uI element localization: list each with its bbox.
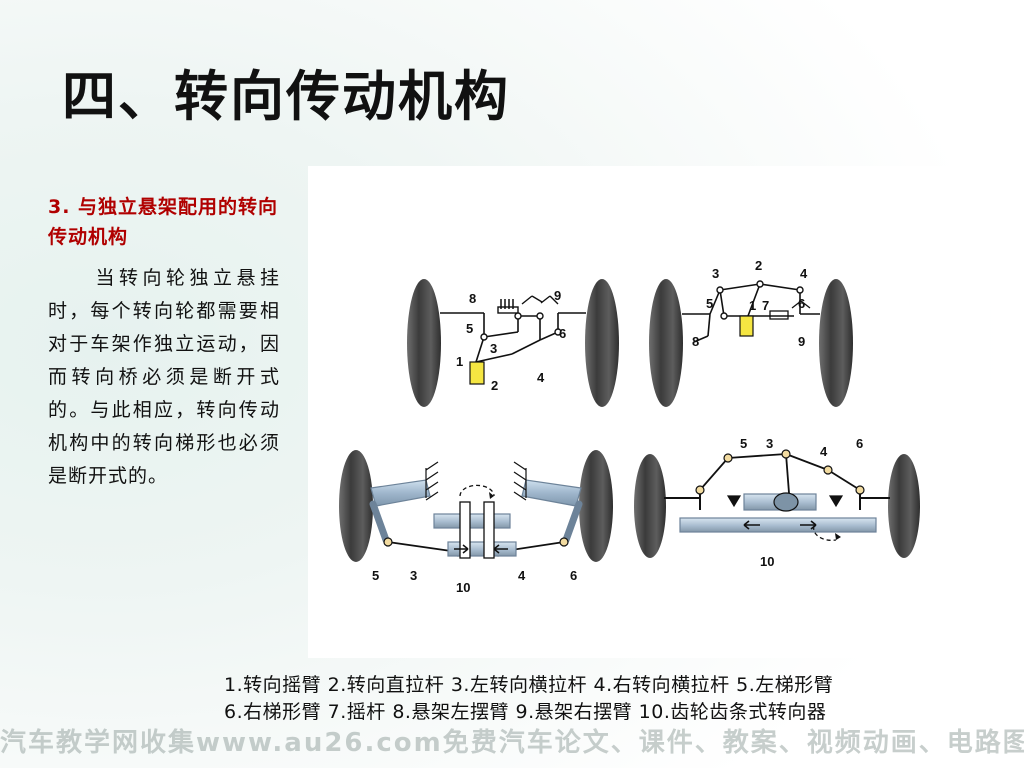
body-paragraph: 当转向轮独立悬挂时，每个转向轮都需要相对于车架作独立运动，因而转向桥必须是断开式… — [48, 262, 280, 493]
label-4: 4 — [800, 266, 808, 281]
label-2: 2 — [491, 378, 498, 393]
label-3: 3 — [410, 568, 417, 583]
figure-panel: 8 5 3 1 2 9 6 4 — [308, 166, 990, 658]
label-9: 9 — [798, 334, 805, 349]
caption-line-1: 1.转向摇臂 2.转向直拉杆 3.左转向横拉杆 4.右转向横拉杆 5.左梯形臂 — [224, 672, 1014, 699]
label-10: 10 — [456, 580, 470, 595]
label-3: 3 — [766, 436, 773, 451]
label-6: 6 — [559, 326, 566, 341]
label-4: 4 — [518, 568, 526, 583]
label-5: 5 — [466, 321, 473, 336]
label-4: 4 — [537, 370, 545, 385]
label-10: 10 — [760, 554, 774, 569]
body-paragraph-text: 当转向轮独立悬挂时，每个转向轮都需要相对于车架作独立运动，因而转向桥必须是断开式… — [48, 267, 280, 487]
label-9: 9 — [554, 288, 561, 303]
label-6: 6 — [570, 568, 577, 583]
label-5: 5 — [372, 568, 379, 583]
label-3: 3 — [712, 266, 719, 281]
left-text-column: 3. 与独立悬架配用的转向传动机构 当转向轮独立悬挂时，每个转向轮都需要相对于车… — [48, 192, 280, 493]
figure-caption: 1.转向摇臂 2.转向直拉杆 3.左转向横拉杆 4.右转向横拉杆 5.左梯形臂 … — [224, 672, 1014, 726]
label-5: 5 — [740, 436, 747, 451]
label-1: 1 — [749, 298, 756, 313]
label-6: 6 — [798, 296, 805, 311]
label-8: 8 — [692, 334, 699, 349]
section-heading: 3. 与独立悬架配用的转向传动机构 — [48, 192, 280, 252]
label-8: 8 — [469, 291, 476, 306]
label-1: 1 — [456, 354, 463, 369]
label-5: 5 — [706, 296, 713, 311]
label-2: 2 — [755, 258, 762, 273]
label-6: 6 — [856, 436, 863, 451]
slide: 四、转向传动机构 3. 与独立悬架配用的转向传动机构 当转向轮独立悬挂时，每个转… — [0, 0, 1024, 768]
label-3: 3 — [490, 341, 497, 356]
label-7: 7 — [762, 298, 769, 313]
watermark-text: 汽车教学网收集www.au26.com免费汽车论文、课件、教案、视频动画、电路图… — [0, 722, 1024, 759]
label-4: 4 — [820, 444, 828, 459]
page-title: 四、转向传动机构 — [62, 52, 510, 131]
